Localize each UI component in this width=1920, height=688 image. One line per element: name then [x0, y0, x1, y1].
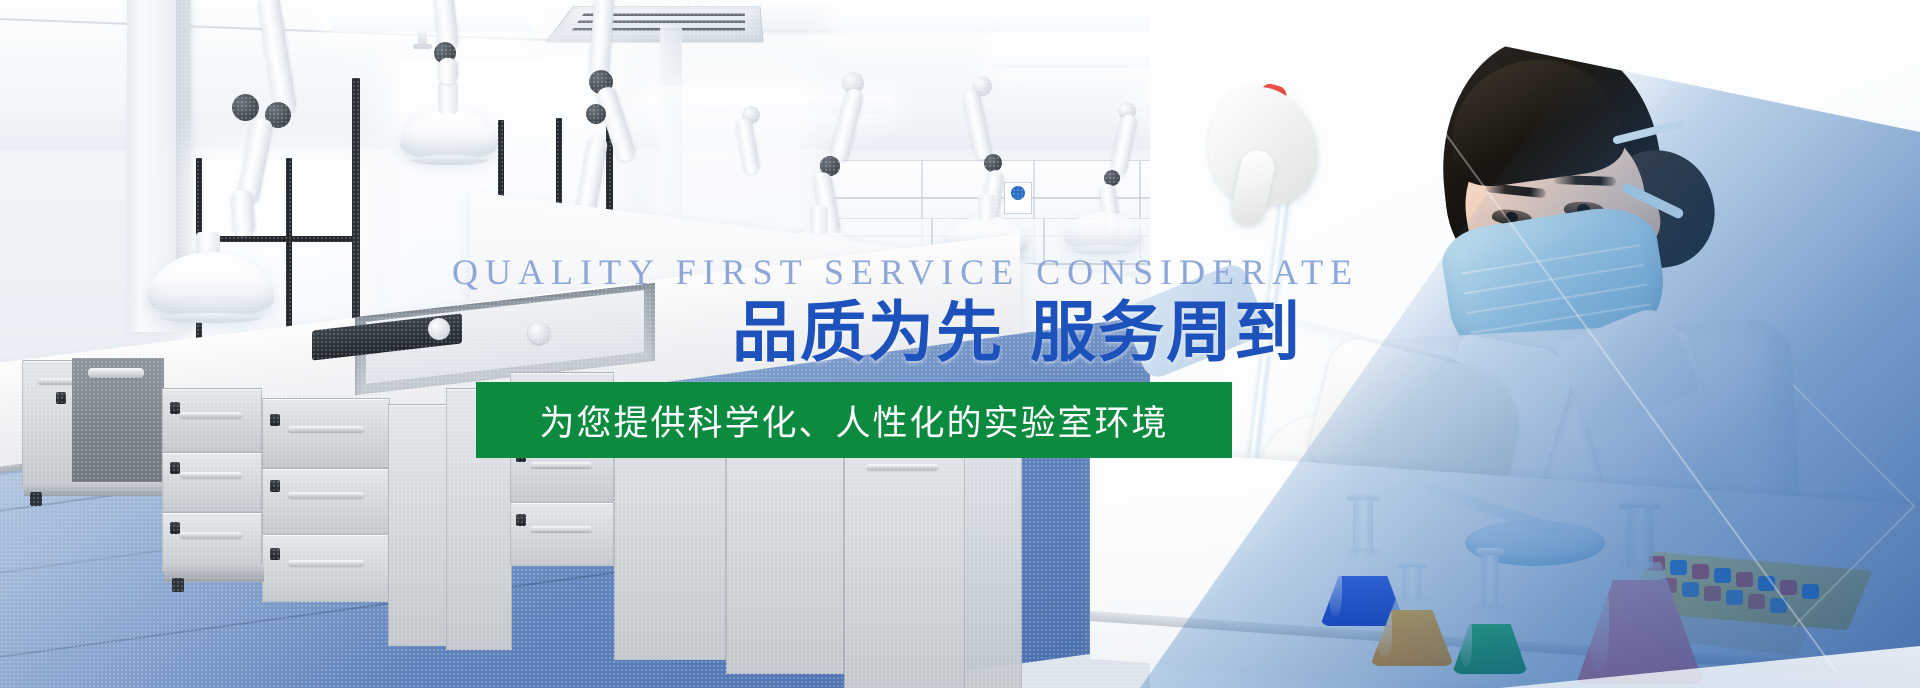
test-tube-cap: [1704, 586, 1721, 601]
test-tube-cap: [1714, 568, 1731, 583]
cabinet-side-panel: [388, 404, 448, 646]
drawer-handle: [530, 462, 592, 468]
drawer-handle: [180, 532, 242, 538]
test-tube-cap: [1736, 572, 1753, 587]
drawer-front: [162, 512, 262, 572]
drawer-handle: [180, 412, 242, 418]
window-mullion: [198, 236, 356, 242]
cabinet-door: [844, 418, 966, 688]
headline-part-2: 服务周到: [1030, 294, 1302, 371]
subtitle-band: 为您提供科学化、人性化的实验室环境: [476, 382, 1232, 458]
drawer-front: [262, 468, 390, 534]
drawer-lock-icon: [170, 522, 180, 534]
test-tube-cap: [1726, 590, 1743, 605]
drawer-front: [162, 452, 262, 512]
drawer-lock-icon: [516, 514, 526, 526]
headline-part-1: 品质为先: [732, 294, 1004, 371]
erlenmeyer-flask-pink: [1576, 498, 1704, 684]
cabinet-foot: [30, 492, 42, 506]
cabinet-foot: [172, 578, 184, 592]
faucet-knob-icon: [528, 322, 550, 344]
drawer-lock-icon: [170, 402, 180, 414]
cabinet-plinth: [24, 482, 174, 496]
test-tube-cap: [1770, 598, 1787, 613]
cabinet-handle: [866, 464, 938, 470]
drawer-handle: [288, 492, 364, 498]
drawer-handle: [530, 526, 592, 532]
drawer-front: [262, 398, 390, 468]
subtitle-text: 为您提供科学化、人性化的实验室环境: [539, 395, 1168, 446]
drawer-front: [162, 388, 262, 452]
ceiling-ac-vent-icon: [545, 6, 764, 42]
drawer-lock-icon: [270, 414, 280, 426]
fume-hood-neck: [810, 206, 828, 234]
ceiling-light-panel: [834, 6, 1177, 32]
wall-sign-icon: [1004, 182, 1032, 214]
cabinet-side-panel: [964, 436, 1022, 688]
drawer-handle: [288, 426, 364, 432]
erlenmeyer-flask-green: [1452, 548, 1528, 674]
cabinet-handle: [88, 368, 144, 378]
drawer-front: [510, 502, 614, 566]
test-tube-cap: [1780, 580, 1797, 595]
ceiling-light-panel: [327, 10, 533, 32]
drawer-front: [262, 534, 390, 602]
english-tagline: QUALITY FIRST SERVICE CONSIDERATE: [452, 251, 1359, 293]
fume-hood-neck: [978, 194, 995, 220]
sprinkler-head-icon: [418, 30, 427, 48]
drawer-handle: [180, 472, 242, 478]
hero-banner: QUALITY FIRST SERVICE CONSIDERATE 品质为先服务…: [0, 0, 1920, 688]
fume-hood-neck: [438, 82, 458, 114]
test-tube-cap: [1758, 576, 1775, 591]
drawer-lock-icon: [270, 480, 280, 492]
drawer-lock-icon: [270, 548, 280, 560]
test-tube-cap: [1802, 584, 1819, 599]
cabinet-lock-icon: [56, 392, 66, 404]
faucet-knob-icon: [428, 318, 450, 340]
drawer-lock-icon: [170, 462, 180, 474]
erlenmeyer-flask-orange: [1370, 560, 1454, 666]
headline: 品质为先服务周到: [732, 300, 1302, 366]
test-tube-cap: [1748, 594, 1765, 609]
drawer-handle: [288, 560, 364, 566]
